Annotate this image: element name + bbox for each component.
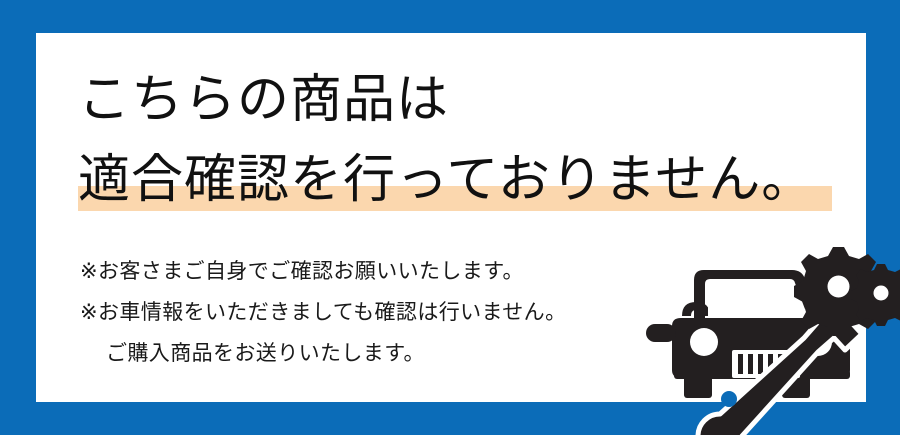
notes-block: ※お客さまご自身でご確認お願いいたします。 ※お車情報をいただきましても確認は行…: [80, 251, 640, 374]
headline-line-2: 適合確認を行っておりません。: [78, 143, 814, 217]
note-line-1: ※お客さまご自身でご確認お願いいたします。: [80, 251, 640, 292]
wrench-pivot-dot: [721, 391, 737, 407]
headline-block: こちらの商品は 適合確認を行っておりません。: [78, 63, 868, 217]
car-wrench-gears-illustration: [632, 238, 900, 435]
headline-line-2-wrap: 適合確認を行っておりません。: [78, 143, 868, 217]
notice-banner: こちらの商品は 適合確認を行っておりません。 ※お客さまご自身でご確認お願いいた…: [0, 0, 900, 435]
headline-line-1: こちらの商品は: [78, 63, 868, 137]
note-line-2: ※お車情報をいただきましても確認は行いません。: [80, 292, 640, 333]
note-line-3: ご購入商品をお送りいたします。: [80, 333, 640, 374]
car-windshield-icon: [708, 279, 808, 317]
gear-small-icon: [851, 264, 900, 326]
